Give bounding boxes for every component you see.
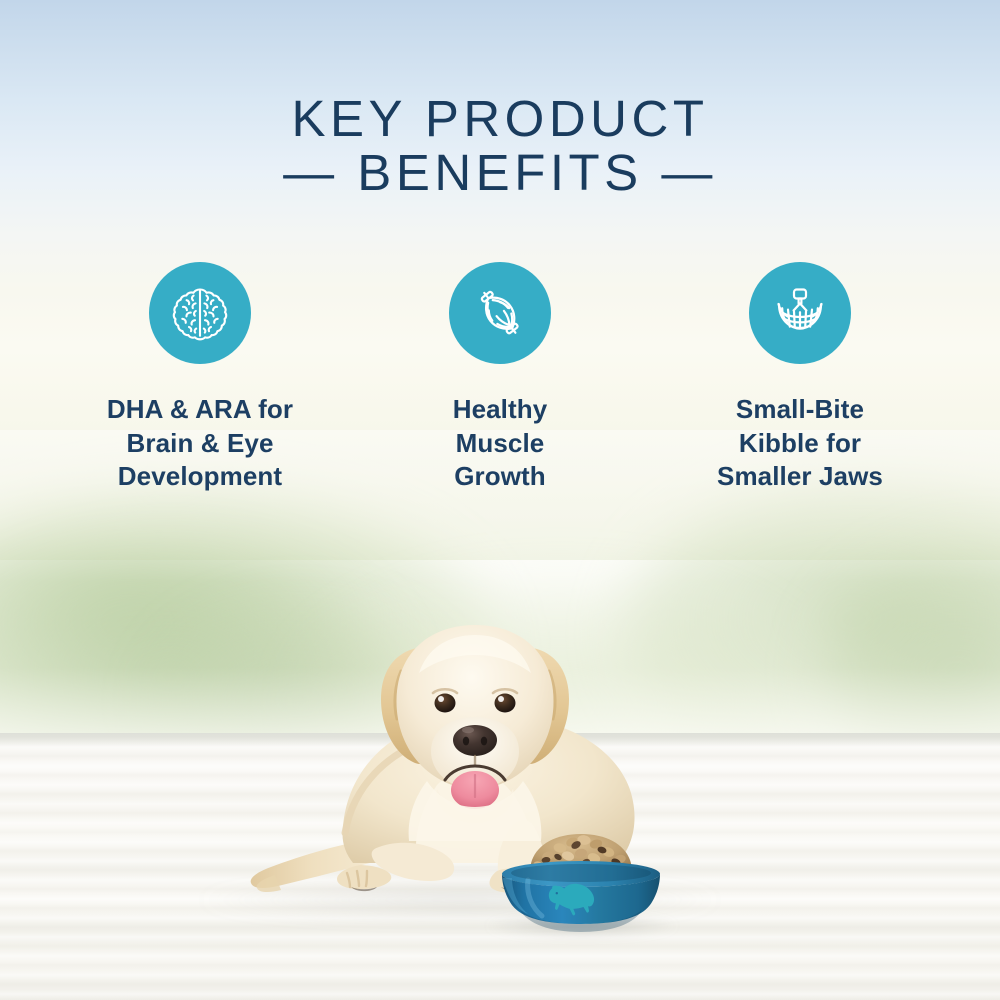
page-title-line-1: KEY PRODUCT — [0, 92, 1000, 146]
brain-icon — [169, 282, 231, 344]
promo-graphic: KEY PRODUCT — BENEFITS — — [0, 0, 1000, 1000]
benefit-label: Healthy Muscle Growth — [453, 393, 548, 494]
benefit-item-small-bite: Small-Bite Kibble for Smaller Jaws — [650, 262, 950, 494]
page-title-line-2: — BENEFITS — — [0, 146, 1000, 200]
benefit-label: DHA & ARA for Brain & Eye Development — [107, 393, 293, 494]
benefits-row: DHA & ARA for Brain & Eye Development — [0, 262, 1000, 494]
puppy-nose — [453, 725, 497, 756]
benefit-icon-badge — [749, 262, 851, 364]
dog-food-bowl — [498, 826, 664, 936]
benefit-icon-badge — [449, 262, 551, 364]
benefit-icon-badge — [149, 262, 251, 364]
page-title: KEY PRODUCT — BENEFITS — — [0, 92, 1000, 200]
benefit-item-dha-ara: DHA & ARA for Brain & Eye Development — [50, 262, 350, 494]
muscle-icon — [469, 282, 531, 344]
golden-retriever-puppy — [175, 575, 775, 925]
puppy-left-eye — [435, 694, 456, 713]
benefit-item-muscle: Healthy Muscle Growth — [350, 262, 650, 494]
kibble-jaw-icon — [769, 282, 831, 344]
benefit-label: Small-Bite Kibble for Smaller Jaws — [717, 393, 883, 494]
puppy-right-eye — [495, 694, 516, 713]
